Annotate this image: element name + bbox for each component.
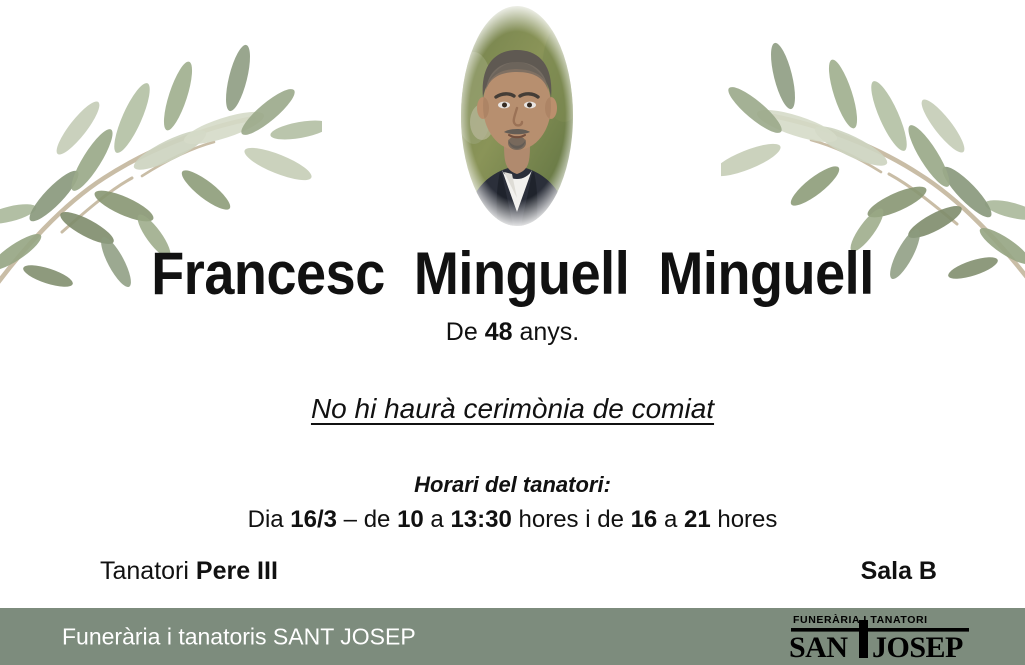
- schedule-morning-from: 10: [397, 506, 424, 533]
- schedule-evening-from: 16: [631, 506, 658, 533]
- portrait-of-deceased-image: [452, 2, 582, 230]
- schedule-sep-2: hores i de: [512, 506, 631, 533]
- age-prefix: De: [446, 318, 485, 346]
- schedule-title: Horari del tanatori:: [0, 472, 1025, 497]
- age-value: 48: [485, 318, 513, 346]
- schedule-suffix: hores: [711, 506, 778, 533]
- tanatori-name: Pere III: [196, 557, 278, 585]
- age-line: De 48 anys.: [0, 319, 1025, 347]
- memorial-notice-card: Francesc Minguell Minguell De 48 anys. N…: [0, 0, 1025, 665]
- schedule-sep-3: a: [657, 506, 684, 533]
- schedule-line: Dia 16/3 – de 10 a 13:30 hores i de 16 a…: [0, 506, 1025, 534]
- schedule-day-prefix: Dia: [248, 506, 291, 533]
- sala-label: Sala B: [861, 557, 937, 586]
- footer-bar: Funerària i tanatoris SANT JOSEP FUNERÀR…: [0, 608, 1025, 665]
- ceremony-note: No hi haurà cerimònia de comiat: [0, 393, 1025, 425]
- tanatori-label: Tanatori Pere III: [100, 557, 278, 586]
- age-suffix: anys.: [513, 318, 580, 346]
- schedule-dash: – de: [337, 506, 397, 533]
- schedule-morning-to: 13:30: [450, 506, 511, 533]
- schedule-date: 16/3: [290, 506, 337, 533]
- avatar: [452, 2, 582, 230]
- logo-word-san: SAN: [789, 631, 848, 661]
- logo-word-josep: JOSEP: [872, 631, 963, 661]
- page-title: Francesc Minguell Minguell: [51, 243, 974, 305]
- room-row: Tanatori Pere III Sala B: [0, 557, 1025, 593]
- notice-content: Francesc Minguell Minguell De 48 anys. N…: [0, 243, 1025, 534]
- sant-josep-logo-icon: FUNERÀRIA I TANATORI SAN JOSEP: [785, 612, 975, 661]
- schedule-evening-to: 21: [684, 506, 711, 533]
- tanatori-prefix: Tanatori: [100, 557, 196, 585]
- schedule-sep-1: a: [424, 506, 451, 533]
- footer-company-name: Funerària i tanatoris SANT JOSEP: [62, 623, 416, 650]
- logo-cross-vertical: [859, 620, 868, 658]
